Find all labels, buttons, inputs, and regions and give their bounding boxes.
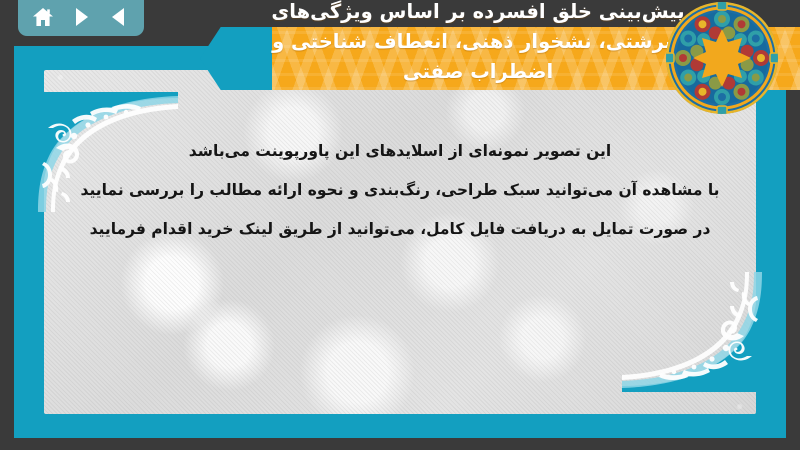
triangle-left-icon	[110, 7, 128, 27]
home-icon	[32, 7, 54, 28]
home-button[interactable]	[28, 3, 58, 31]
triangle-right-icon	[72, 7, 90, 27]
slide-body-text: این تصویر نمونه‌ای از اسلایدهای این پاور…	[40, 132, 760, 249]
next-slide-button[interactable]	[66, 3, 96, 31]
ornamental-medallion-icon	[665, 1, 779, 115]
slide-navigation-bar	[18, 0, 144, 36]
previous-slide-button[interactable]	[104, 3, 134, 31]
presentation-slide: پیش‌بینی خلق افسرده بر اساس ویژگی‌های سر…	[0, 0, 800, 450]
